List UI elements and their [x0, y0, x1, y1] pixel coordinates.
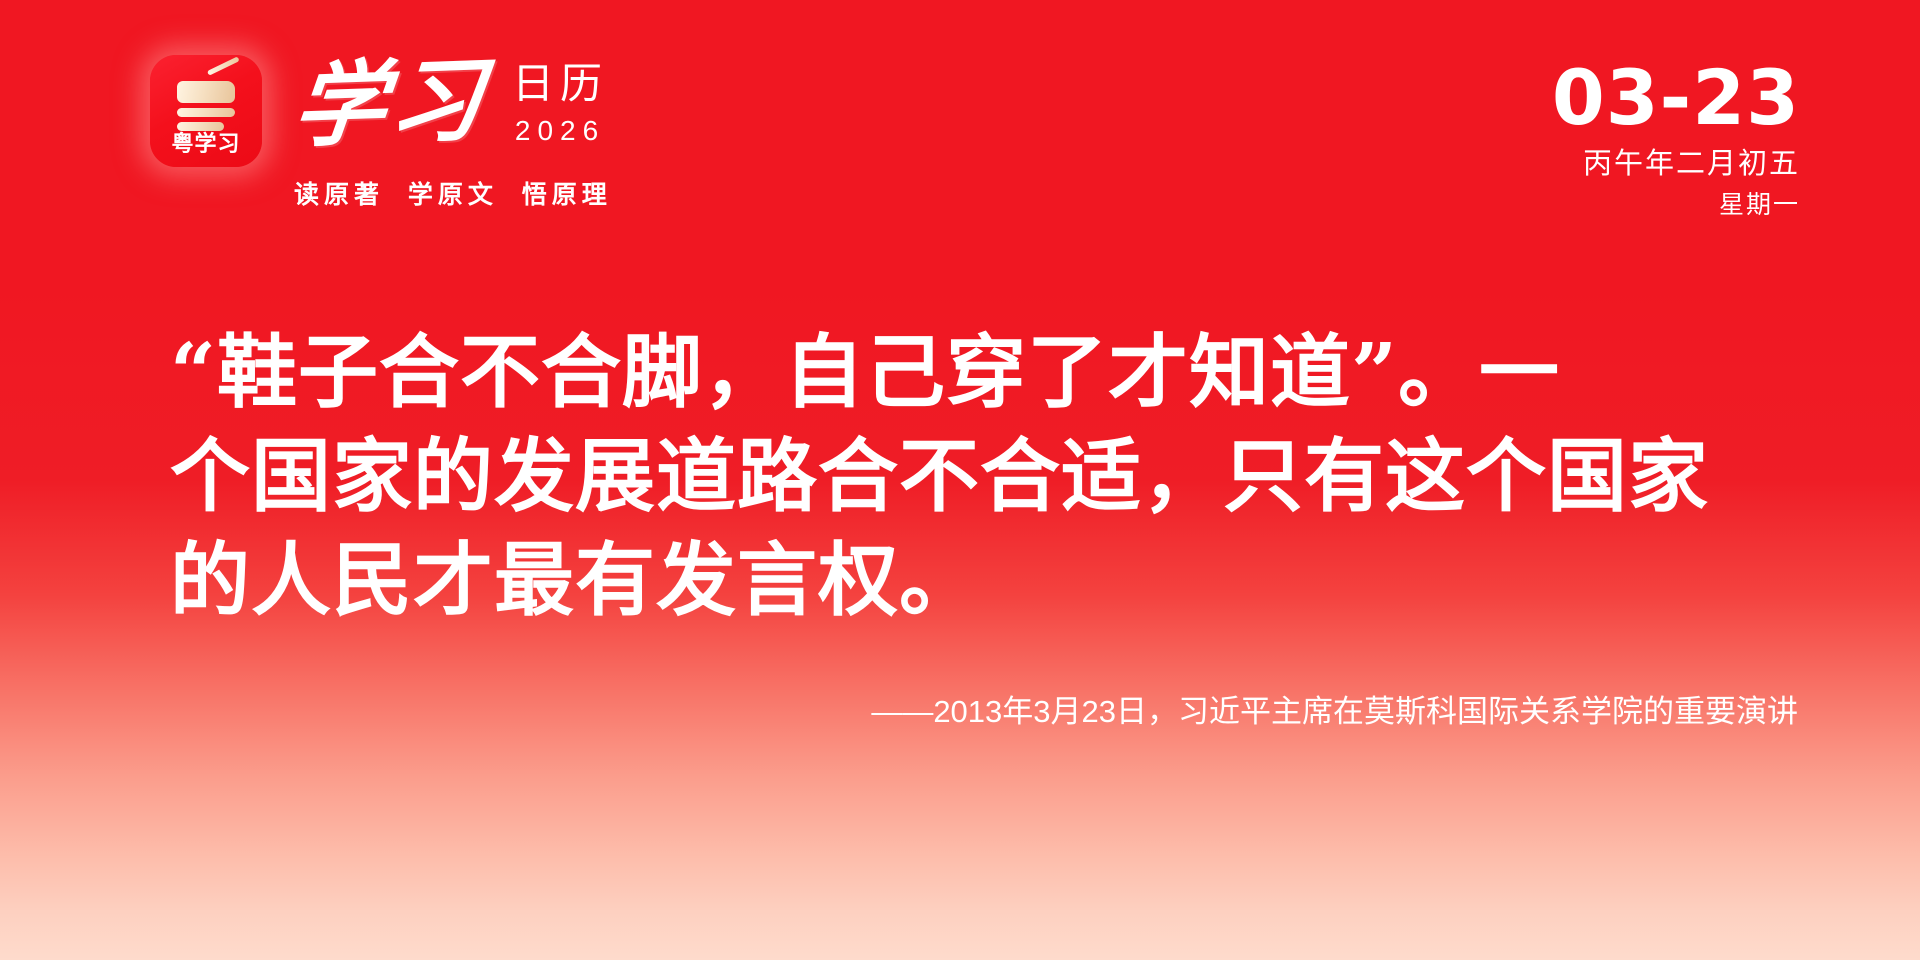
book-radio-icon: [150, 69, 262, 131]
book-bar-middle: [177, 108, 235, 117]
brand-title-row: 学习 日历 2026: [294, 57, 612, 149]
date-weekday: 星期一: [1552, 193, 1800, 218]
quote-line-2: 个国家的发展道路合不合适，只有这个国家: [170, 424, 1800, 528]
brand-slogan: 读原著 学原文 悟原理: [294, 175, 612, 211]
brand-text-block: 学习 日历 2026 读原著 学原文 悟原理: [294, 55, 612, 211]
book-bar-bottom: [177, 122, 224, 131]
xuexi-calendar-poster: 粤学习 学习 日历 2026 读原著 学原文 悟原理 03-23 丙午年二月初五…: [0, 0, 1920, 960]
date-block: 03-23 丙午年二月初五 星期一: [1552, 62, 1800, 218]
quote-line-1: “鞋子合不合脚，自己穿了才知道”。一: [170, 320, 1800, 424]
quote-line-3: 的人民才最有发言权。: [170, 528, 1800, 632]
brand-calligraphy-title: 学习: [289, 54, 492, 153]
app-icon-label: 粤学习: [150, 134, 262, 156]
quote-attribution: ——2013年3月23日，习近平主席在莫斯科国际关系学院的重要演讲: [871, 696, 1798, 727]
yue-xuexi-app-icon[interactable]: 粤学习: [150, 55, 262, 167]
quote-block: “鞋子合不合脚，自己穿了才知道”。一 个国家的发展道路合不合适，只有这个国家 的…: [170, 320, 1800, 632]
book-bar-top: [177, 81, 235, 103]
antenna-icon: [207, 56, 240, 75]
date-lunar: 丙午年二月初五: [1552, 150, 1800, 179]
brand-block: 粤学习 学习 日历 2026 读原著 学原文 悟原理: [150, 55, 612, 211]
date-gregorian: 03-23: [1552, 62, 1800, 134]
brand-subtitle-group: 日历 2026: [512, 63, 608, 149]
brand-calendar-label: 日历: [512, 63, 608, 105]
brand-year: 2026: [512, 117, 608, 145]
poster-header: 粤学习 学习 日历 2026 读原著 学原文 悟原理 03-23 丙午年二月初五…: [0, 0, 1920, 250]
